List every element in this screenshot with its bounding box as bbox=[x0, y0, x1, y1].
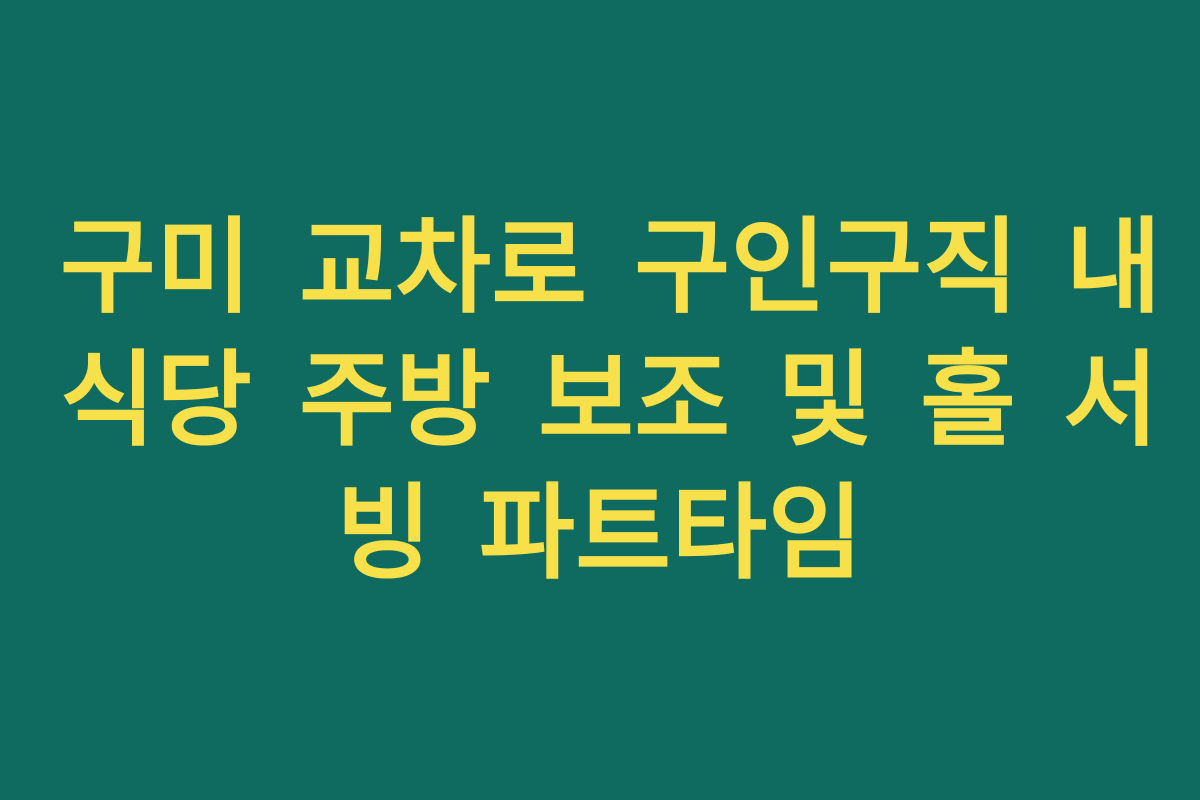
banner-canvas: 구미 교차로 구인구직 내 식당 주방 보조 및 홀 서 빙 파트타임 bbox=[0, 0, 1200, 800]
title-line-3: 빙 파트타임 bbox=[60, 467, 1140, 600]
page-title: 구미 교차로 구인구직 내 식당 주방 보조 및 홀 서 빙 파트타임 bbox=[60, 201, 1140, 600]
title-line-1: 구미 교차로 구인구직 내 bbox=[60, 201, 1140, 334]
title-line-2: 식당 주방 보조 및 홀 서 bbox=[60, 334, 1140, 467]
